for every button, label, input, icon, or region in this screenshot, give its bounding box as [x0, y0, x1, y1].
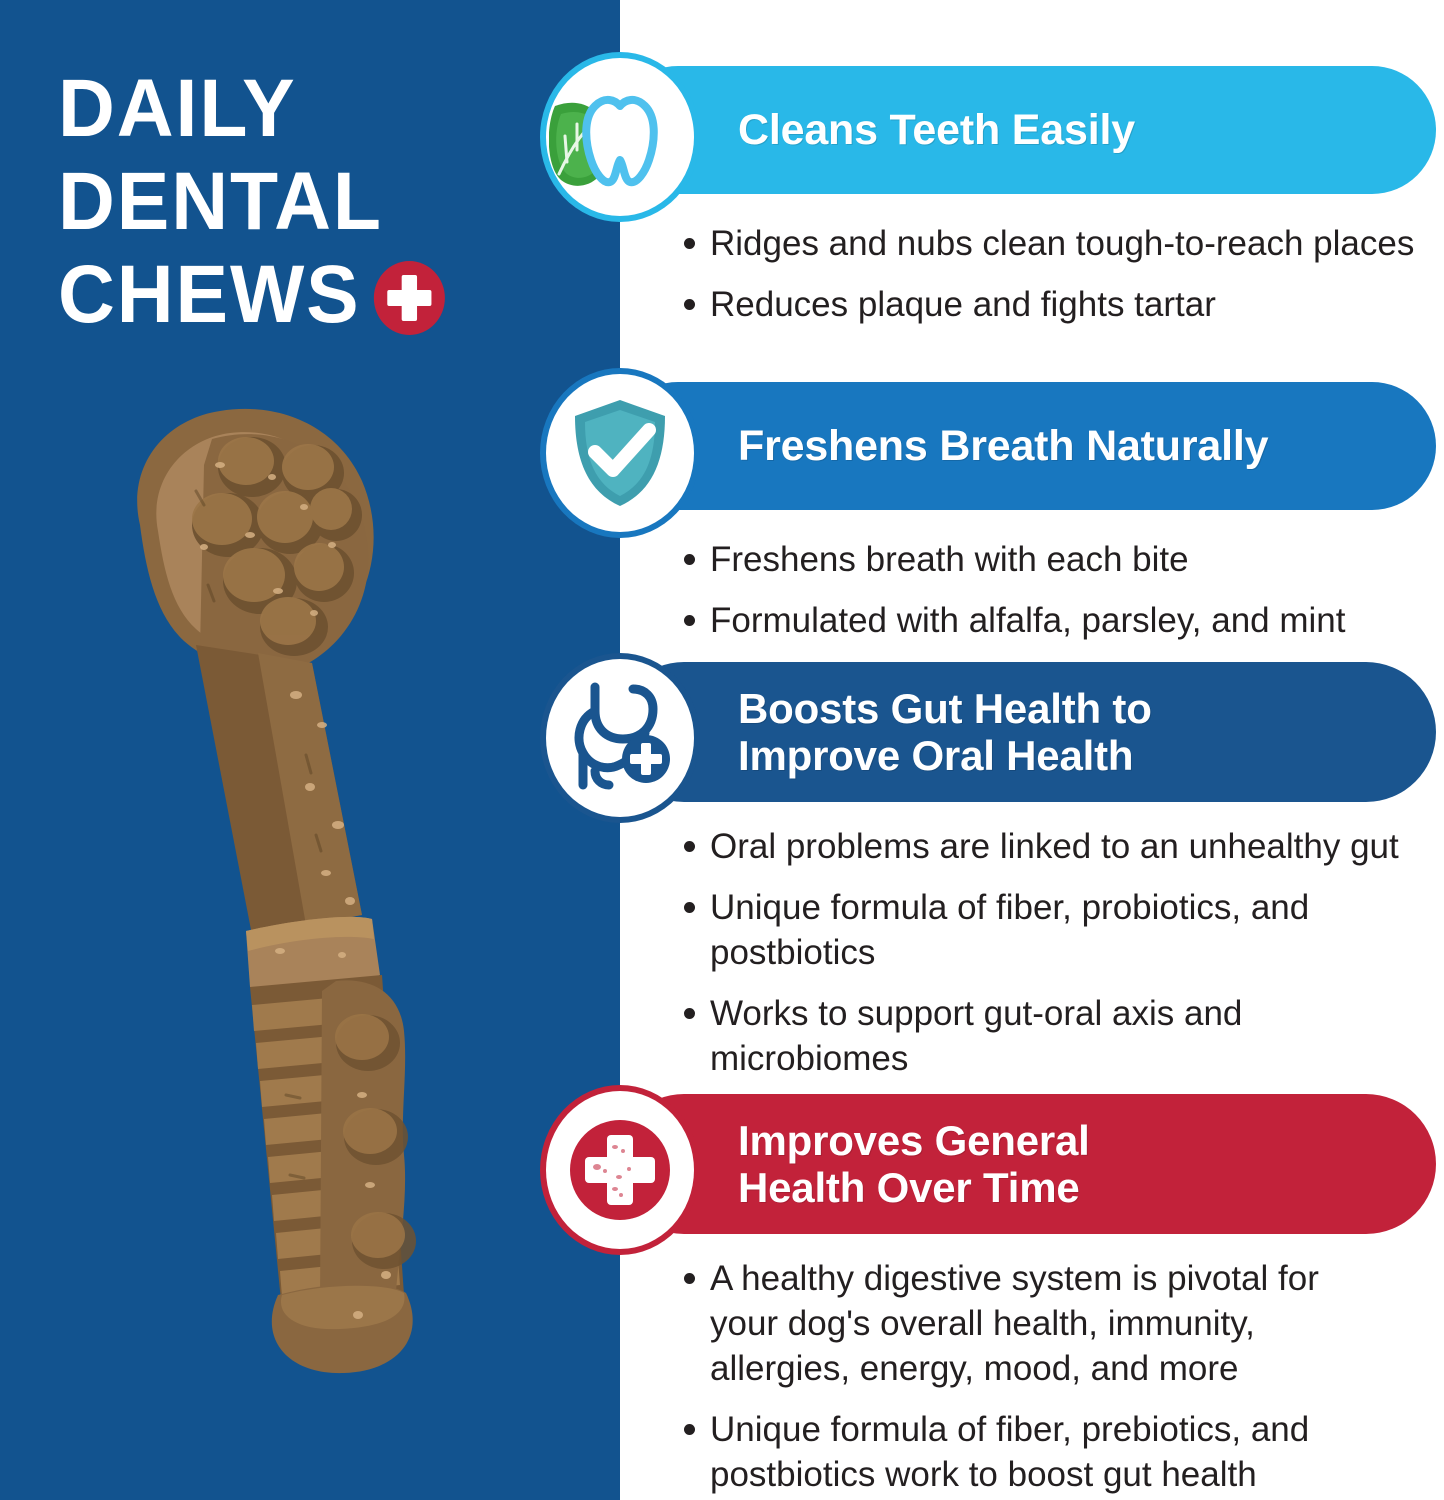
section-header-bar-2: Freshens Breath Naturally: [614, 382, 1436, 510]
list-item: Formulated with alfalfa, parsley, and mi…: [684, 598, 1345, 643]
section-bullets-2: Freshens breath with each bite Formulate…: [684, 537, 1345, 659]
section-heading-1: Cleans Teeth Easily: [614, 105, 1159, 155]
bullet-dot: [684, 615, 695, 626]
section-bullets-4: A healthy digestive system is pivotal fo…: [684, 1256, 1400, 1500]
section-header-bar-3: Boosts Gut Health to Improve Oral Health: [614, 662, 1436, 802]
section-heading-3-line1: Boosts Gut Health to: [738, 685, 1152, 732]
list-item: Freshens breath with each bite: [684, 537, 1345, 582]
bullet-text: Formulated with alfalfa, parsley, and mi…: [710, 598, 1345, 643]
list-item: Unique formula of fiber, probiotics, and…: [684, 885, 1410, 975]
bullet-text: Reduces plaque and fights tartar: [710, 282, 1216, 327]
section-header-bar-4: Improves General Health Over Time: [614, 1094, 1436, 1234]
section-bullets-1: Ridges and nubs clean tough-to-reach pla…: [684, 221, 1414, 343]
list-item: Works to support gut-oral axis and micro…: [684, 991, 1410, 1081]
list-item: Reduces plaque and fights tartar: [684, 282, 1414, 327]
stomach-plus-icon: [546, 659, 694, 817]
shield-check-icon: [546, 374, 694, 532]
bullet-text: Unique formula of fiber, probiotics, and…: [710, 885, 1410, 975]
bullet-text: Works to support gut-oral axis and micro…: [710, 991, 1330, 1081]
medical-cross-circle-icon: [546, 1091, 694, 1249]
section-heading-2: Freshens Breath Naturally: [614, 421, 1292, 471]
bullet-dot: [684, 1273, 695, 1284]
list-item: A healthy digestive system is pivotal fo…: [684, 1256, 1400, 1391]
bullet-dot: [684, 902, 695, 913]
product-infographic: DAILY DENTAL CHEWS: [0, 0, 1444, 1500]
bullet-dot: [684, 238, 695, 249]
bullet-dot: [684, 299, 695, 310]
bullet-dot: [684, 841, 695, 852]
bullet-dot: [684, 554, 695, 565]
section-heading-4-line1: Improves General: [738, 1117, 1090, 1164]
section-bullets-3: Oral problems are linked to an unhealthy…: [684, 824, 1410, 1097]
list-item: Ridges and nubs clean tough-to-reach pla…: [684, 221, 1414, 266]
list-item: Oral problems are linked to an unhealthy…: [684, 824, 1410, 869]
section-heading-3-line2: Improve Oral Health: [738, 732, 1152, 779]
bullet-text: Oral problems are linked to an unhealthy…: [710, 824, 1399, 869]
bullet-dot: [684, 1424, 695, 1435]
tooth-mint-leaf-icon: [546, 58, 694, 216]
section-heading-4-line2: Health Over Time: [738, 1164, 1090, 1211]
bullet-text: Ridges and nubs clean tough-to-reach pla…: [710, 221, 1414, 266]
section-heading-3: Boosts Gut Health to Improve Oral Health: [614, 685, 1176, 779]
section-header-bar-1: Cleans Teeth Easily: [614, 66, 1436, 194]
list-item: Unique formula of fiber, prebiotics, and…: [684, 1407, 1400, 1497]
bullet-text: A healthy digestive system is pivotal fo…: [710, 1256, 1390, 1391]
bullet-text: Freshens breath with each bite: [710, 537, 1189, 582]
bullet-dot: [684, 1008, 695, 1019]
bullet-text: Unique formula of fiber, prebiotics, and…: [710, 1407, 1400, 1497]
benefits-list: Cleans Teeth Easily: [0, 0, 1444, 1500]
